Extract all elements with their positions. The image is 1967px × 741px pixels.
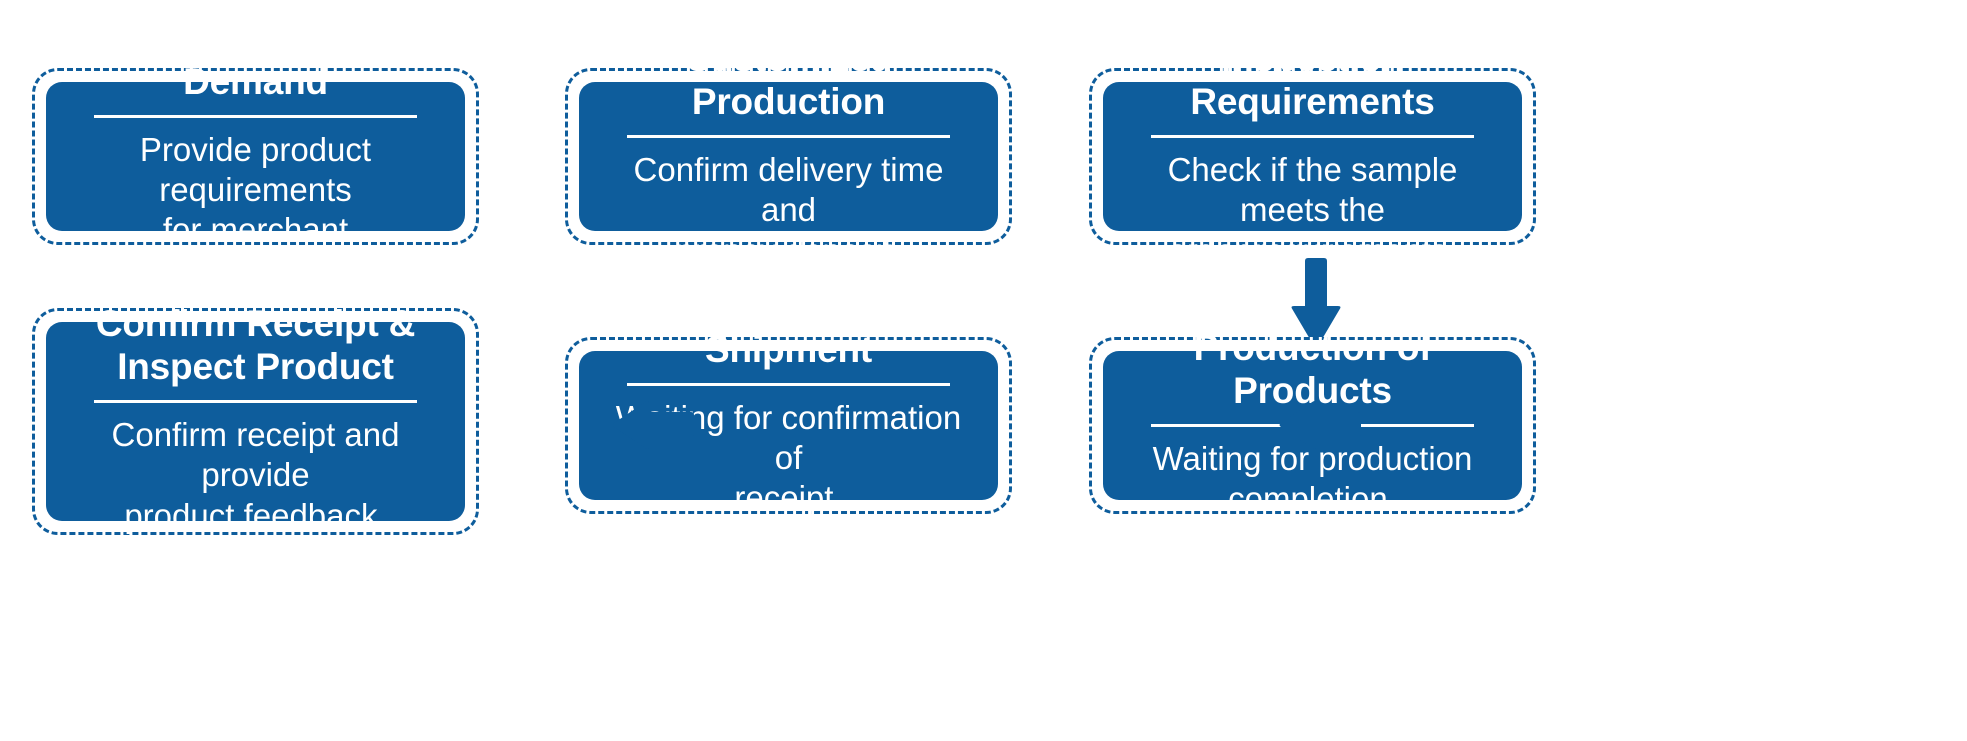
connector-step4-step5 [1278,400,1364,450]
flowchart-canvas: Customized on Demand Provide product req… [0,0,1967,741]
process-step-6[interactable]: Confirm Receipt & Inspect Product Confir… [32,308,479,535]
process-step-1-divider [94,115,417,118]
process-step-2-description: Confirm delivery time and prepay deposit… [605,150,972,271]
process-step-6-title: Confirm Receipt & Inspect Product [96,303,415,389]
process-step-6-description: Confirm receipt and provide product feed… [72,415,439,536]
process-step-3[interactable]: Inspection Requirements Check if the sam… [1089,68,1536,245]
process-step-1-title: Customized on Demand [72,18,439,104]
process-step-4-description: Waiting for production completion. [1153,439,1473,520]
process-step-3-divider [1151,135,1474,138]
process-step-6-divider [94,400,417,403]
process-step-3-title: Inspection Requirements [1129,38,1496,124]
process-step-2-divider [627,135,950,138]
process-step-6-card: Confirm Receipt & Inspect Product Confir… [46,322,465,521]
process-step-1[interactable]: Customized on Demand Provide product req… [32,68,479,245]
process-step-1-card: Customized on Demand Provide product req… [46,82,465,231]
connector-step5-step6 [611,400,697,450]
arrow-left-icon [611,400,697,450]
process-step-1-description: Provide product requirements for merchan… [72,130,439,291]
arrow-left-icon [1278,400,1364,450]
process-step-2[interactable]: Customized Production Confirm delivery t… [565,68,1012,245]
process-step-5-title: Shipment [705,329,872,372]
process-step-5-divider [627,383,950,386]
process-step-2-card: Customized Production Confirm delivery t… [579,82,998,231]
process-step-3-description: Check if the sample meets the order requ… [1129,150,1496,271]
process-step-2-title: Customized Production [605,38,972,124]
process-step-3-card: Inspection Requirements Check if the sam… [1103,82,1522,231]
